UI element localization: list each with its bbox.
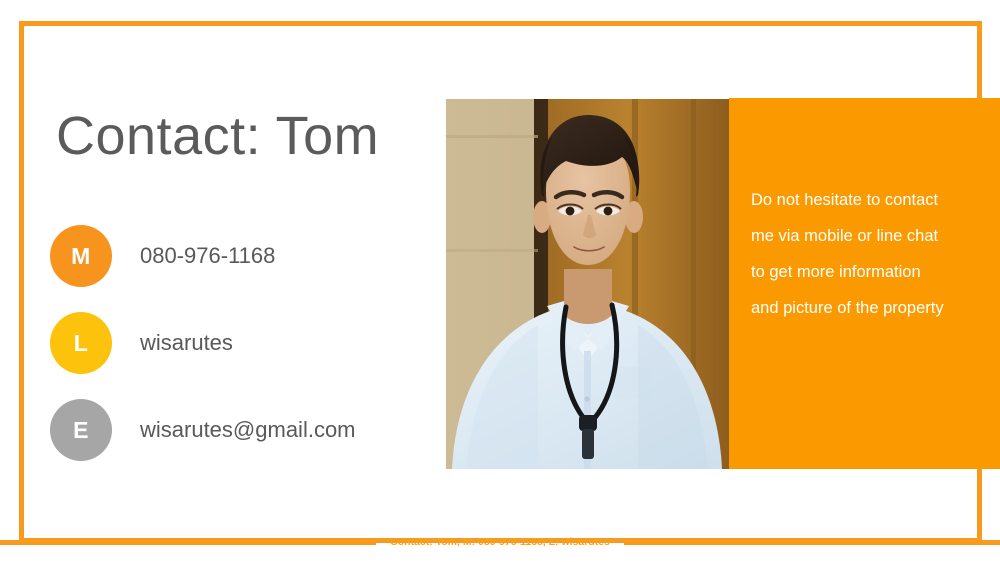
contact-value-line: wisarutes — [140, 330, 233, 356]
contact-slide: Contact: Tom M 080-976-1168 L wisarutes … — [0, 0, 1000, 562]
message-line-3: to get more information — [751, 255, 983, 291]
mobile-badge-icon: M — [50, 225, 112, 287]
footer: Contact: Tom, M: 080-976-1168, L: wisaru… — [0, 534, 1000, 550]
portrait-photo — [446, 99, 730, 469]
page-title: Contact: Tom — [56, 108, 379, 165]
message-line-4: and picture of the property — [751, 291, 983, 327]
message-panel: Do not hesitate to contact me via mobile… — [729, 98, 1000, 469]
message-text: Do not hesitate to contact me via mobile… — [751, 183, 983, 327]
contact-row-mobile[interactable]: M 080-976-1168 — [50, 225, 420, 287]
contact-row-email[interactable]: E wisarutes@gmail.com — [50, 399, 420, 461]
message-line-2: me via mobile or line chat — [751, 219, 983, 255]
footer-text: Contact: Tom, M: 080-976-1168, L: wisaru… — [376, 536, 624, 548]
message-line-1: Do not hesitate to contact — [751, 183, 983, 219]
line-badge-icon: L — [50, 312, 112, 374]
footer-rule-left — [0, 540, 376, 545]
contact-value-email: wisarutes@gmail.com — [140, 417, 356, 443]
contact-list: M 080-976-1168 L wisarutes E wisarutes@g… — [50, 225, 420, 486]
contact-row-line[interactable]: L wisarutes — [50, 312, 420, 374]
email-badge-icon: E — [50, 399, 112, 461]
footer-rule-right — [624, 540, 1000, 545]
contact-value-mobile: 080-976-1168 — [140, 243, 275, 269]
